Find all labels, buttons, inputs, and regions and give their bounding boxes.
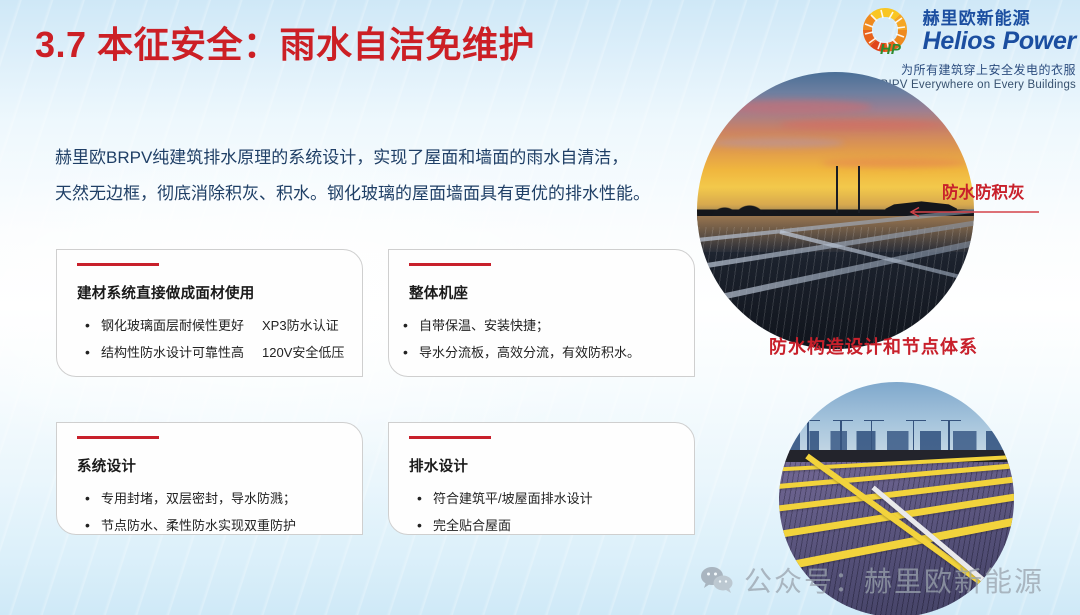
bullet-marker-icon: • — [403, 312, 419, 338]
construction-crane — [840, 420, 842, 453]
bullet-text: 完全贴合屋面 — [433, 513, 511, 539]
annotation-waterproof-dustproof: 防水防积灰 — [942, 179, 1025, 203]
card-bullet-list: • 钢化玻璃面层耐候性更好 XP3防水认证 • 结构性防水设计可靠性高 120V… — [85, 312, 350, 366]
construction-crane — [871, 420, 873, 453]
bullet-extra-text: XP3防水认证 — [262, 313, 339, 339]
card-accent-bar — [409, 263, 491, 266]
photo-content — [779, 382, 1014, 615]
helios-sun-logo-icon: HP — [855, 4, 917, 60]
bullet-text: 自带保温、安装快捷； — [419, 313, 549, 339]
card-heading: 排水设计 — [409, 455, 468, 476]
lead-paragraph: 赫里欧BRPV纯建筑排水原理的系统设计，实现了屋面和墙面的雨水自清洁， 天然无边… — [55, 140, 675, 212]
construction-crane — [948, 420, 950, 453]
lead-line-2: 天然无边框，彻底消除积灰、积水。钢化玻璃的屋面墙面具有更优的排水性能。 — [55, 176, 675, 212]
feature-card-integrated-base: 整体机座 • 自带保温、安装快捷； • 导水分流板，高效分流，有效防积水。 — [388, 249, 695, 377]
list-item: • 导水分流板，高效分流，有效防积水。 — [403, 339, 682, 366]
bullet-text: 导水分流板，高效分流，有效防积水。 — [419, 340, 640, 366]
cloud — [822, 158, 966, 168]
list-item: • 完全贴合屋面 — [417, 512, 682, 539]
cloud — [719, 100, 871, 114]
slide-root: 3.7 本征安全：雨水自洁免维护 — [0, 0, 1080, 615]
logo-company-en: Helios Power — [923, 29, 1076, 54]
card-heading: 建材系统直接做成面材使用 — [77, 282, 255, 303]
card-bullet-list: • 专用封堵，双层密封，导水防溅； • 节点防水、柔性防水实现双重防护 — [85, 485, 350, 539]
bullet-text: 钢化玻璃面层耐候性更好 — [101, 313, 244, 339]
feature-card-material-system: 建材系统直接做成面材使用 • 钢化玻璃面层耐候性更好 XP3防水认证 • 结构性… — [56, 249, 363, 377]
logo-monogram: HP — [880, 41, 902, 58]
blue-purple-solar-roof-photo — [779, 382, 1014, 615]
bullet-marker-icon: • — [417, 485, 433, 511]
list-item: • 专用封堵，双层密封，导水防溅； — [85, 485, 350, 512]
annotation-arrow-icon — [905, 205, 1040, 217]
bullet-marker-icon: • — [85, 312, 101, 338]
utility-pole — [836, 166, 838, 213]
lead-line-1: 赫里欧BRPV纯建筑排水原理的系统设计，实现了屋面和墙面的雨水自清洁， — [55, 140, 675, 176]
construction-crane — [807, 420, 809, 453]
bullet-text: 专用封堵，双层密封，导水防溅； — [101, 486, 296, 512]
feature-card-system-design: 系统设计 • 专用封堵，双层密封，导水防溅； • 节点防水、柔性防水实现双重防护 — [56, 422, 363, 535]
card-bullet-list: • 符合建筑平/坡屋面排水设计 • 完全贴合屋面 — [417, 485, 682, 539]
card-bullet-list: • 自带保温、安装快捷； • 导水分流板，高效分流，有效防积水。 — [403, 312, 682, 366]
bullet-text: 结构性防水设计可靠性高 — [101, 340, 244, 366]
card-accent-bar — [77, 263, 159, 266]
bullet-text: 符合建筑平/坡屋面排水设计 — [433, 486, 593, 512]
bullet-extra-text: 120V安全低压 — [262, 340, 344, 366]
bullet-marker-icon: • — [85, 512, 101, 538]
bullet-marker-icon: • — [85, 339, 101, 365]
logo-row: HP 赫里欧新能源 Helios Power — [855, 4, 1076, 60]
feature-card-drainage-design: 排水设计 • 符合建筑平/坡屋面排水设计 • 完全贴合屋面 — [388, 422, 695, 535]
logo-wordmark: 赫里欧新能源 Helios Power — [923, 10, 1076, 54]
list-item: • 节点防水、柔性防水实现双重防护 — [85, 512, 350, 539]
utility-pole — [858, 166, 860, 213]
bullet-marker-icon: • — [417, 512, 433, 538]
card-accent-bar — [409, 436, 491, 439]
bullet-marker-icon: • — [85, 485, 101, 511]
logo-company-cn: 赫里欧新能源 — [923, 10, 1076, 27]
annotation-waterproof-structure: 防水构造设计和节点体系 — [769, 333, 978, 359]
card-heading: 系统设计 — [77, 455, 136, 476]
wechat-icon — [700, 565, 734, 595]
bullet-text: 节点防水、柔性防水实现双重防护 — [101, 513, 296, 539]
page-title: 3.7 本征安全：雨水自洁免维护 — [35, 16, 535, 68]
list-item: • 钢化玻璃面层耐候性更好 XP3防水认证 — [85, 312, 350, 339]
card-heading: 整体机座 — [409, 282, 468, 303]
list-item: • 结构性防水设计可靠性高 120V安全低压 — [85, 339, 350, 366]
list-item: • 自带保温、安装快捷； — [403, 312, 682, 339]
list-item: • 符合建筑平/坡屋面排水设计 — [417, 485, 682, 512]
construction-crane — [913, 420, 915, 453]
card-accent-bar — [77, 436, 159, 439]
bullet-marker-icon: • — [403, 339, 419, 365]
